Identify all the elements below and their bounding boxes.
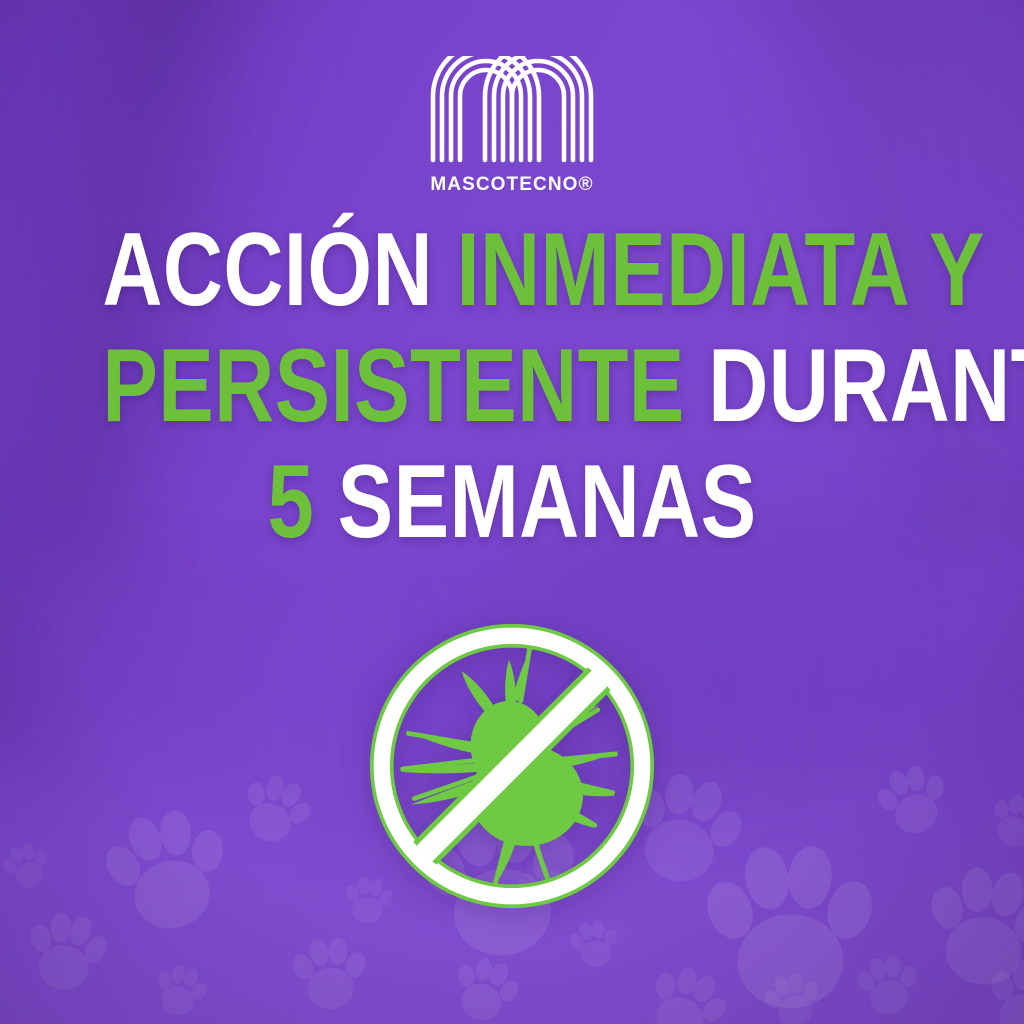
brand-logo: MASCOTECNO® (0, 56, 1024, 194)
promo-graphic-canvas: MASCOTECNO® ACCIÓN INMEDIATA Y PERSISTEN… (0, 0, 1024, 1024)
headline-segment: INMEDIATA Y (457, 212, 985, 328)
interwoven-heart-logo-icon (424, 56, 600, 166)
headline-block: ACCIÓN INMEDIATA Y PERSISTENTE DURANTE 5… (0, 212, 1024, 560)
brand-wordmark: MASCOTECNO® (430, 175, 593, 194)
headline-segment: DURANTE (708, 328, 1024, 444)
headline-segment: 5 (267, 444, 314, 560)
headline-segment: SEMANAS (338, 444, 757, 560)
headline-line-1: ACCIÓN INMEDIATA Y (102, 212, 921, 328)
headline-line-2: PERSISTENTE DURANTE (102, 328, 921, 444)
no-tick-prohibition-icon (364, 618, 660, 914)
headline-line-3: 5 SEMANAS (102, 444, 921, 560)
headline-segment: PERSISTENTE (102, 328, 684, 444)
headline-segment: ACCIÓN (102, 212, 433, 328)
